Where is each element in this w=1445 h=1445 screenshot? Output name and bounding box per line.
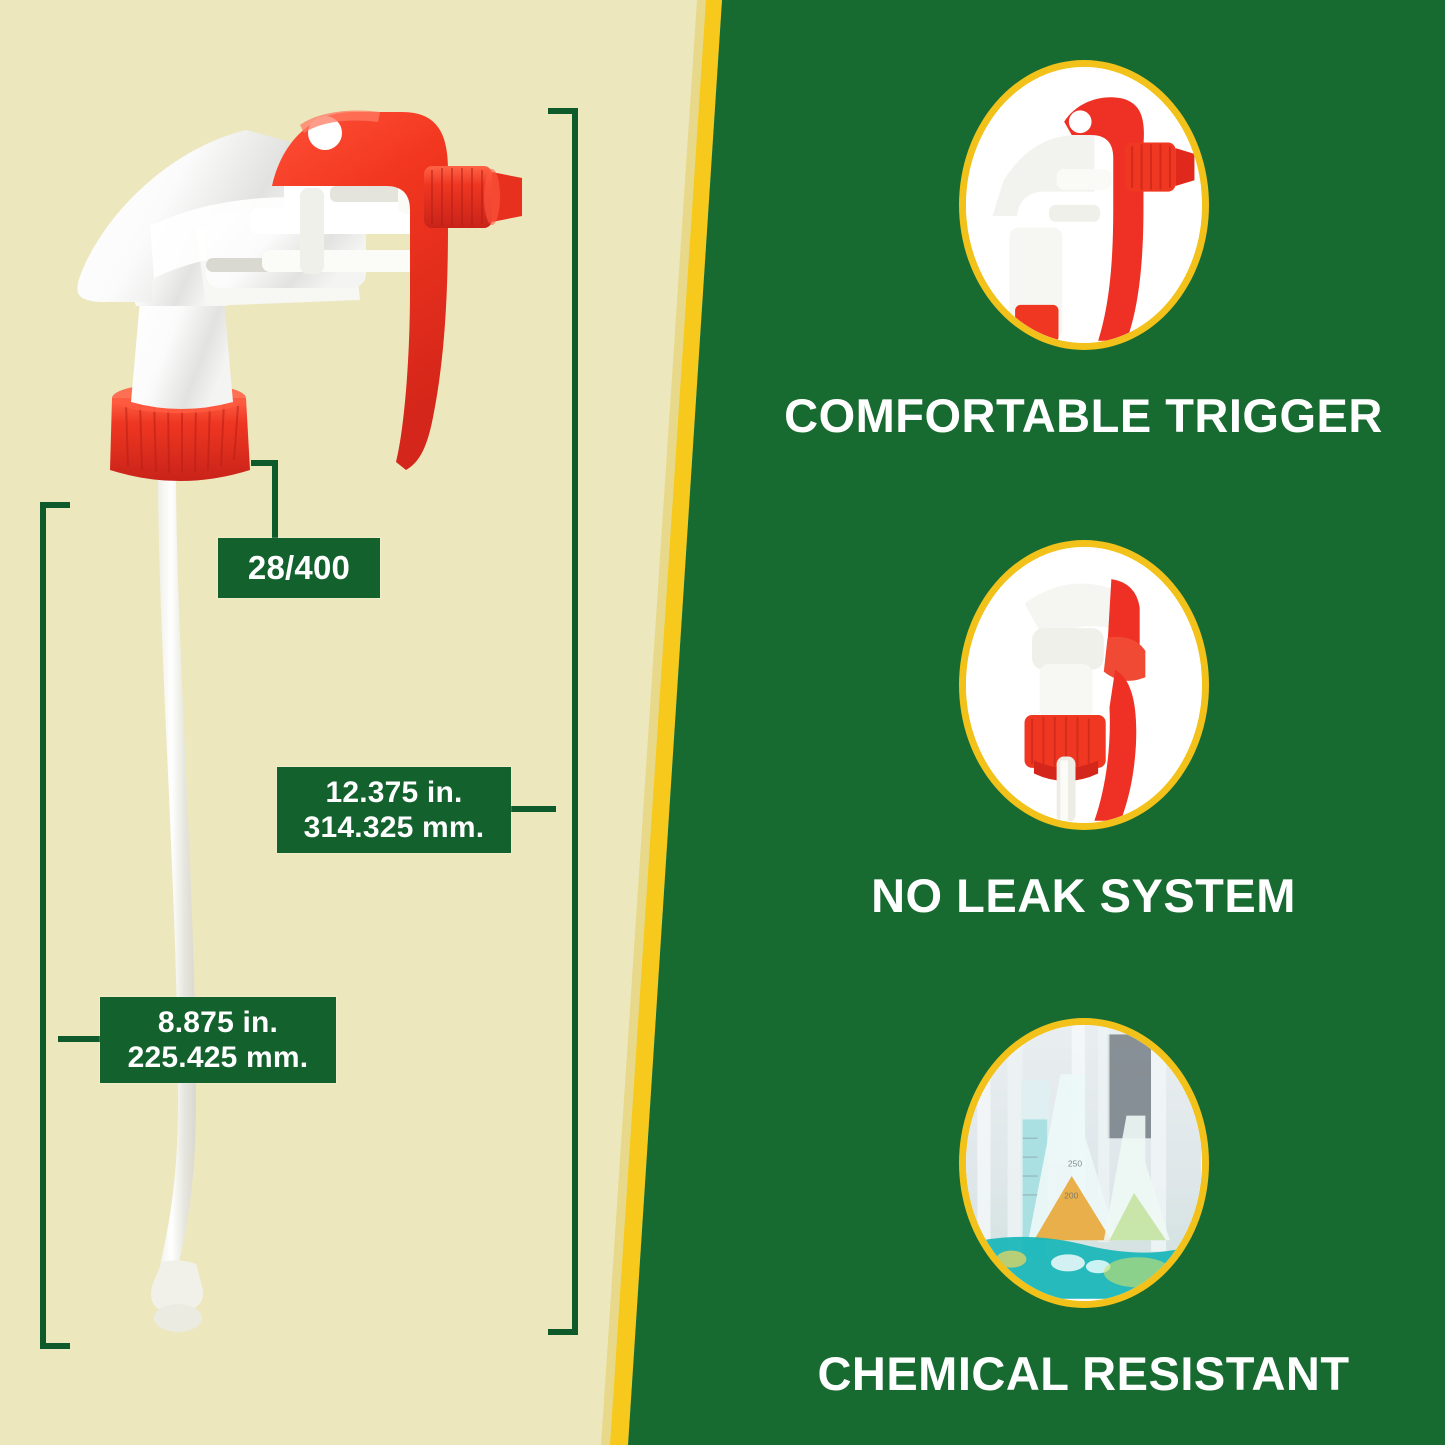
svg-text:250: 250 <box>1067 1159 1081 1169</box>
svg-text:200: 200 <box>1064 1191 1078 1201</box>
dip-tube-length-bracket <box>40 502 70 1349</box>
product-illustration <box>0 0 722 1445</box>
overall-length-bracket <box>548 108 578 1335</box>
overall-length-leader-line <box>508 806 556 812</box>
feature-comfortable-trigger: COMFORTABLE TRIGGER <box>722 60 1445 443</box>
laboratory-glassware-icon: 250 200 <box>966 1025 1202 1299</box>
callout-dip-tube-length: 8.875 in. 225.425 mm. <box>100 997 336 1083</box>
callout-dip-tube-length-text: 8.875 in. 225.425 mm. <box>128 1005 309 1076</box>
feature-1-label: COMFORTABLE TRIGGER <box>722 388 1445 443</box>
neck-finish-leader-horizontal <box>251 460 278 466</box>
trigger-closeup-icon <box>966 67 1202 341</box>
infographic-canvas: 28/400 12.375 in. 314.325 mm. 8.875 in. … <box>0 0 1445 1445</box>
feature-no-leak-system: NO LEAK SYSTEM <box>722 540 1445 923</box>
feature-2-label: NO LEAK SYSTEM <box>722 868 1445 923</box>
feature-3-image-ring: 250 200 <box>959 1018 1209 1308</box>
feature-1-image-ring <box>959 60 1209 350</box>
callout-overall-length: 12.375 in. 314.325 mm. <box>277 767 511 853</box>
feature-chemical-resistant: 250 200 CHEMICAL RESISTANT <box>722 1018 1445 1401</box>
spray-nozzle <box>424 166 522 228</box>
callout-neck-finish-text: 28/400 <box>248 549 350 588</box>
no-leak-closeup-icon <box>966 547 1202 821</box>
callout-neck-finish: 28/400 <box>218 538 380 598</box>
dip-tube <box>151 470 203 1332</box>
feature-3-label: CHEMICAL RESISTANT <box>722 1346 1445 1401</box>
feature-2-image-ring <box>959 540 1209 830</box>
callout-overall-length-text: 12.375 in. 314.325 mm. <box>304 775 485 846</box>
